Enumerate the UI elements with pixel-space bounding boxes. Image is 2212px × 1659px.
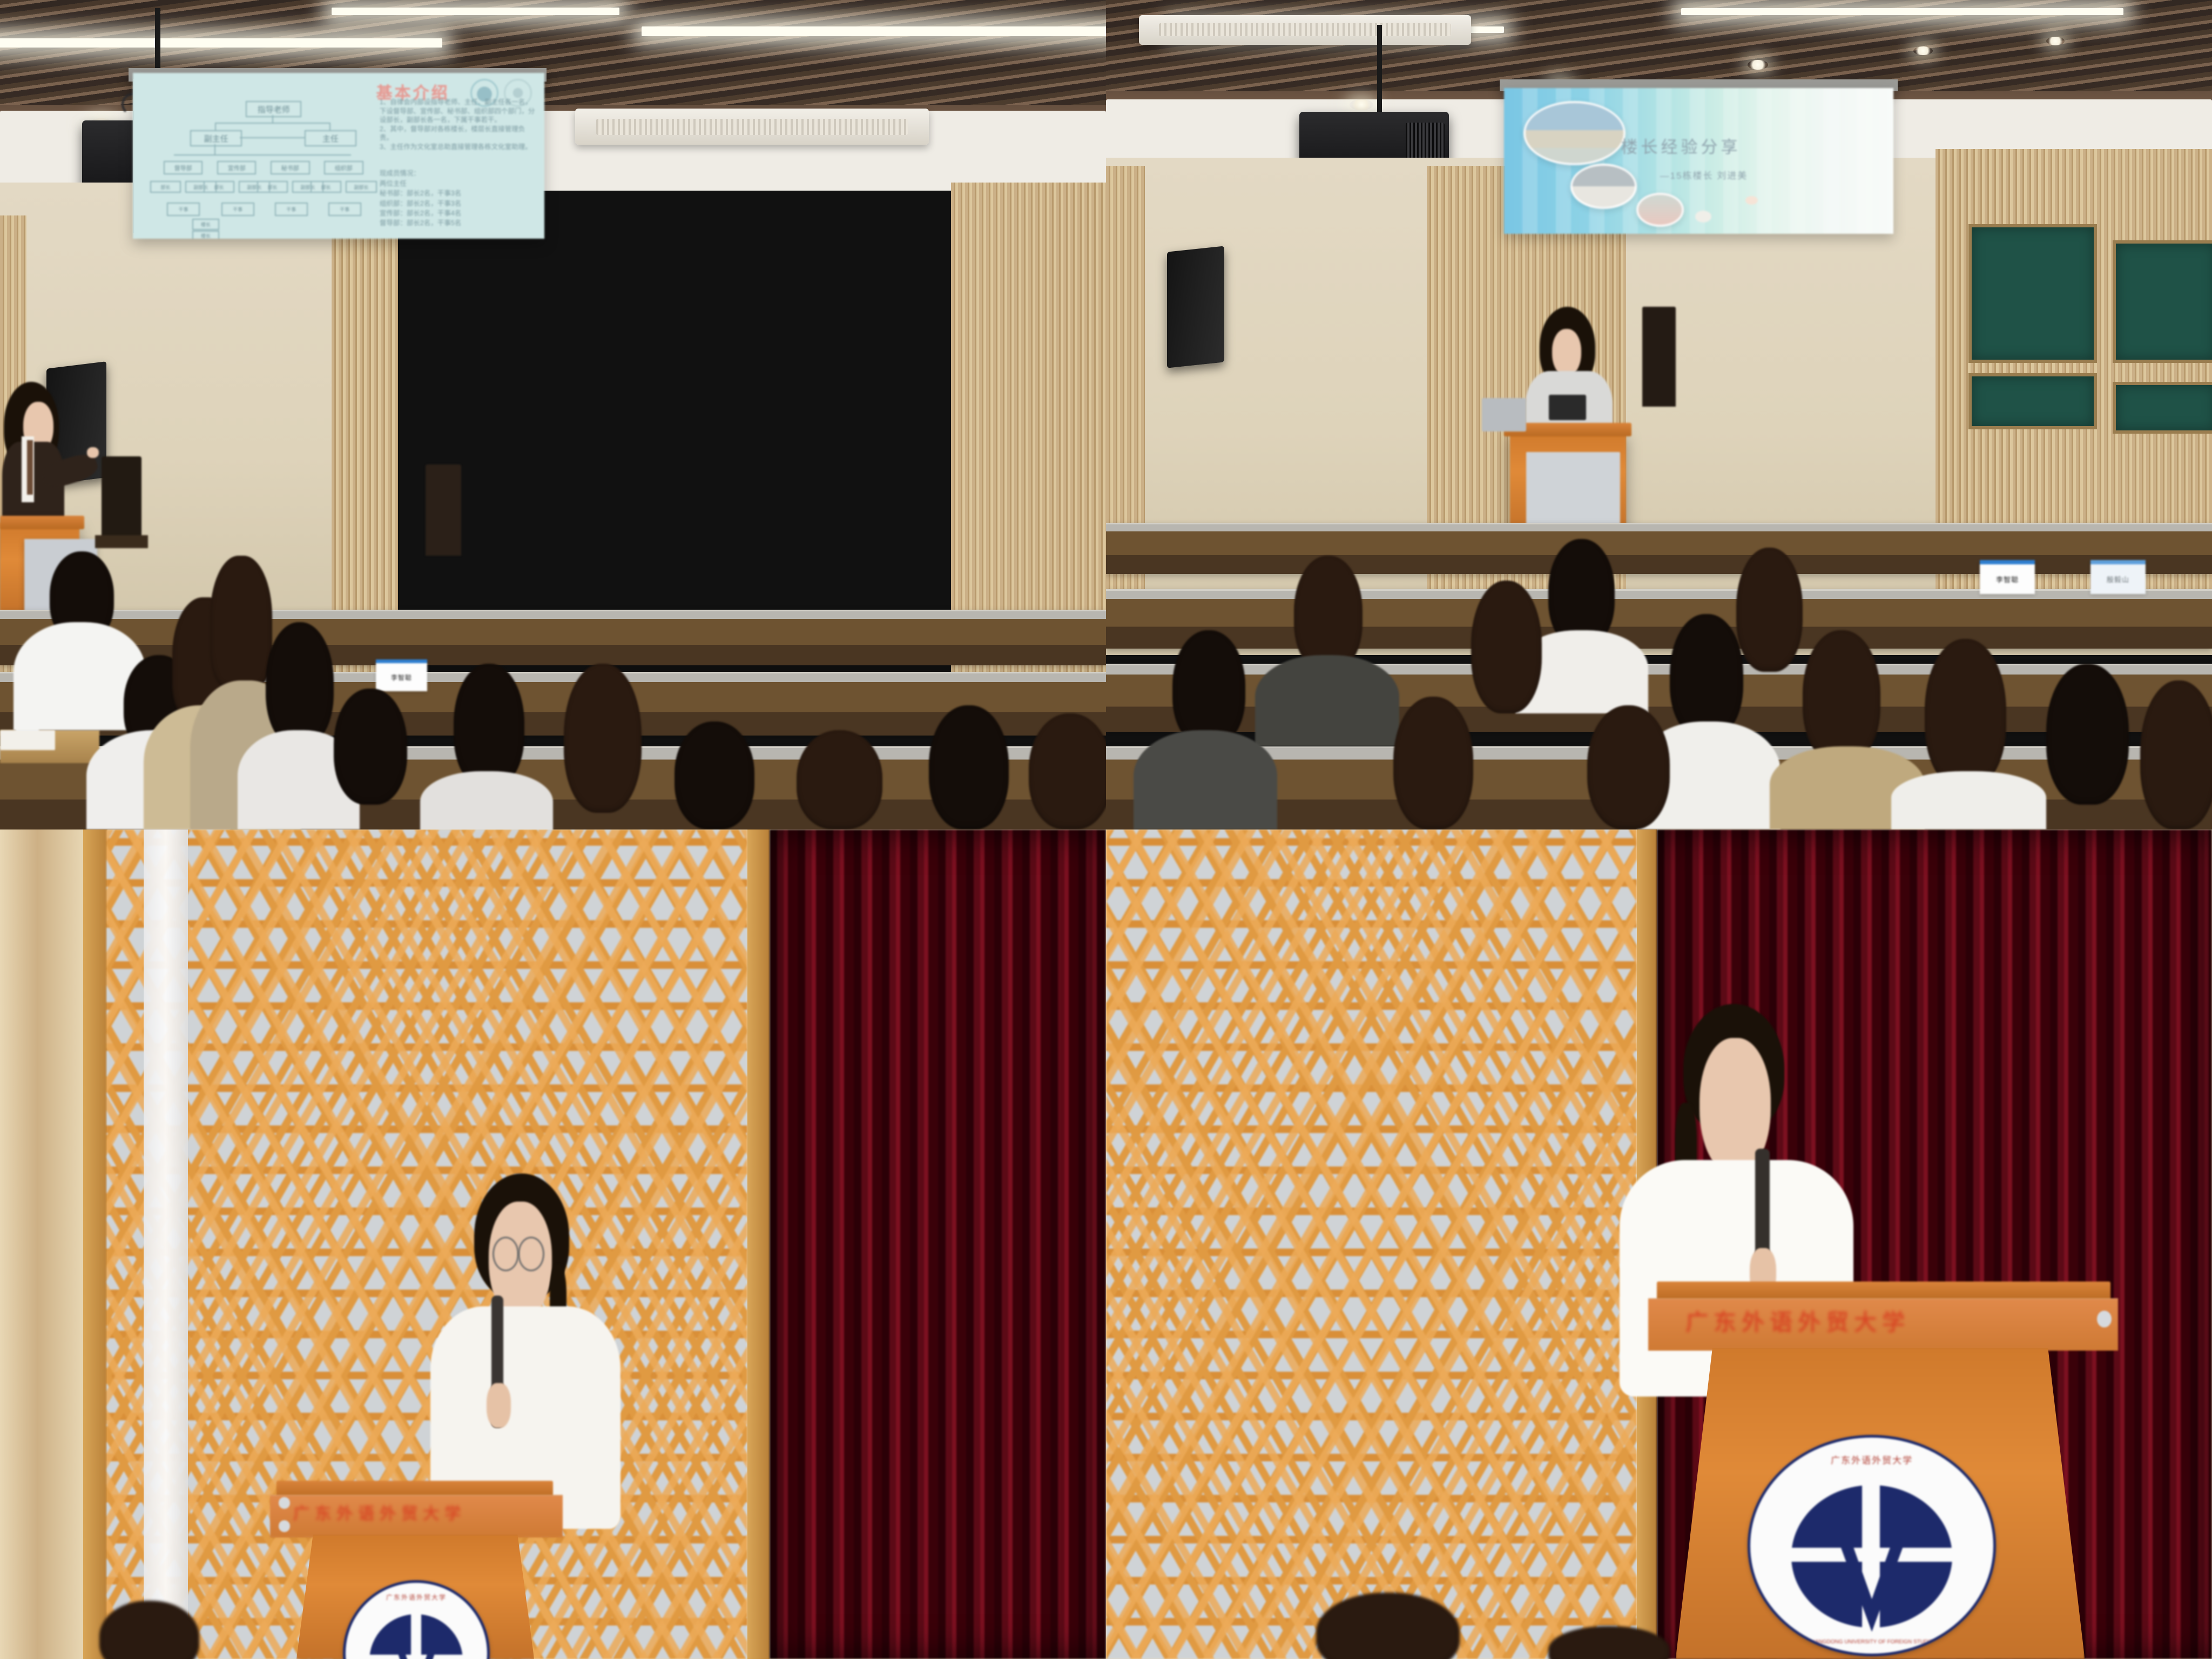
slide-member-line: 两位主任 (380, 179, 536, 188)
slide-member-line: 秘书部：部长2名，干事3名 (380, 189, 536, 198)
slide-members-heading: 现成员情况： (380, 169, 536, 178)
org-node-building-head: 楼长 (192, 219, 219, 230)
crest-english-text: GUANGDONG UNIVERSITY OF FOREIGN STUDIES (1765, 1639, 1979, 1645)
podium-bolt (279, 1520, 289, 1532)
lattice-screen-wall (1106, 829, 1637, 1659)
air-conditioner (575, 109, 929, 145)
audience-head (1803, 630, 1880, 763)
necktie (27, 440, 33, 495)
podium-bolt (279, 1497, 289, 1509)
audience-head (1587, 705, 1670, 829)
slide-body-text: 1、自律会内部设指导老师、主任、副主任各一名，下设督导部、宣传部、秘书部、组织部… (380, 98, 536, 151)
org-node-dept: 宣传部 (217, 161, 257, 175)
stage-chair (102, 456, 141, 539)
org-node-role: 副部长 (346, 181, 376, 193)
stage-chair-seat (95, 535, 148, 549)
org-connector (215, 123, 330, 124)
chalkboard (1968, 224, 2096, 363)
chalkboard (1968, 373, 2096, 429)
org-node-director: 主任 (305, 130, 356, 146)
hand (487, 1383, 511, 1428)
wood-slat-wall (332, 199, 398, 680)
audience-head (1736, 548, 1803, 672)
downlight (2046, 37, 2065, 45)
ac-grill (1159, 23, 1451, 36)
audience-shoulders (1255, 655, 1399, 746)
name-placard: 殷毅山 (2090, 560, 2146, 594)
lattice-pattern-overlay (1106, 829, 1637, 1659)
activity-photo (1636, 193, 1683, 226)
podium-bolt (2097, 1311, 2112, 1327)
ceiling-light (0, 38, 442, 48)
podium-banner: 广东外语外贸大学 (270, 1495, 563, 1537)
podium-panel (1526, 452, 1620, 527)
lattice-frame (83, 829, 107, 1659)
university-crest: 广东外语外贸大学 GUANGDONG UNIVERSITY OF FOREIGN… (1748, 1435, 1997, 1656)
glasses-icon (518, 1237, 544, 1271)
downlight (1748, 60, 1768, 70)
org-connector (240, 137, 305, 138)
audience-head (1925, 639, 2007, 788)
audience-head (454, 664, 524, 788)
podium-banner: 广东外语外贸大学 (1648, 1298, 2118, 1351)
crest-chinese-text: 广东外语外贸大学 (357, 1593, 476, 1635)
org-node-dept: 督导部 (164, 161, 203, 175)
audience-head (2140, 680, 2212, 829)
stage-curtain (770, 829, 1106, 1659)
face (1552, 329, 1581, 376)
audience-head (1172, 630, 1245, 746)
audience-head (210, 556, 272, 689)
stage-chair (1642, 307, 1675, 406)
org-node-building-head: 楼长 (192, 231, 219, 239)
audience-head (797, 730, 883, 829)
org-node-staff: 干事 (167, 203, 200, 217)
desk-row (1106, 589, 2212, 649)
desk-row (1106, 523, 2212, 574)
notebook (0, 730, 55, 750)
collage-panel-bottom-left: 广东外语外贸大学 广东外语外贸大学 GUANGDONG UNIVERSITY O… (0, 829, 1106, 1659)
slide-subtitle: —15栋楼长 刘进美 (1660, 168, 1748, 181)
audience-shoulders (420, 771, 553, 829)
stage-chair (426, 464, 461, 556)
slide-member-line: 督导部：部长2名，干事5名 (380, 219, 536, 228)
audience-head (929, 705, 1008, 829)
campus-building-photo (1523, 101, 1625, 165)
speaker-person (464, 1174, 586, 1522)
audience-head (266, 622, 334, 746)
hand (87, 447, 99, 458)
downlight (1350, 99, 1373, 110)
ceiling-light (642, 26, 1106, 36)
shirt-graphic (1549, 395, 1586, 420)
wood-slat-wall (1106, 166, 1145, 647)
chalkboard (2113, 240, 2212, 363)
slide-basic-introduction: 基本介绍 指导老师 副主任 主任 督导部 宣传部 秘书部 组 (133, 73, 544, 239)
podium-banner-text: 广东外语外贸大学 (1685, 1304, 2090, 1337)
name-placard: 李智聪 (376, 659, 427, 691)
podium-laptop (1482, 398, 1526, 431)
org-node-staff: 干事 (328, 203, 361, 217)
slide-experience-sharing: 楼长经验分享 —15栋楼长 刘进美 (1504, 88, 1893, 234)
name-placard: 李智聪 (1980, 560, 2035, 594)
wood-column (0, 829, 83, 1659)
audience-head (675, 721, 754, 829)
decor-dot (1695, 211, 1711, 222)
audience-head (1670, 614, 1743, 738)
org-connector (214, 144, 215, 154)
org-node-vice-director: 副主任 (190, 130, 241, 146)
dorm-room-photo (1570, 164, 1637, 209)
ac-grill (596, 119, 908, 135)
audience-shoulders (1134, 730, 1277, 829)
slide-member-line: 宣传部：部长2名，干事4名 (380, 209, 536, 218)
org-node-staff: 干事 (221, 203, 254, 217)
podium-top (0, 516, 84, 529)
audience-head (1471, 581, 1542, 713)
org-node-dept: 秘书部 (271, 161, 310, 175)
crest-chinese-text: 广东外语外贸大学 (1770, 1453, 1974, 1518)
org-node-staff: 干事 (275, 203, 308, 217)
org-node-role: 部长 (204, 181, 234, 193)
org-node-role: 部长 (311, 181, 341, 193)
audience-head (1029, 713, 1106, 829)
wall-pillar (144, 829, 188, 1659)
photo-collage: 基本介绍 指导老师 副主任 主任 督导部 宣传部 秘书部 组 (0, 0, 2212, 1659)
org-node-role: 部长 (150, 181, 181, 193)
lattice-frame (747, 829, 770, 1659)
collage-panel-bottom-right: 广东外语外贸大学 广东外语外贸大学 GUANGDONG UNIVERSITY O… (1106, 829, 2212, 1659)
org-connector (174, 154, 351, 156)
ceiling-light (1681, 8, 2123, 15)
audience-head (1393, 697, 1473, 829)
slide-member-line: 组织部：部长2名，干事3名 (380, 199, 536, 208)
chalkboard (2113, 382, 2212, 434)
slide-title: 楼长经验分享 (1621, 133, 1741, 158)
projector-mount-pole (1377, 25, 1382, 116)
audience-head (2046, 664, 2129, 805)
podium-banner-text: 广东外语外贸大学 (293, 1500, 545, 1524)
audience-head (334, 689, 407, 805)
collage-panel-top-right: 楼长经验分享 —15栋楼长 刘进美 李智聪 殷毅山 (1106, 0, 2212, 829)
collage-panel-top-left: 基本介绍 指导老师 副主任 主任 督导部 宣传部 秘书部 组 (0, 0, 1106, 829)
audience-shoulders (1891, 771, 2046, 829)
projection-screen: 基本介绍 指导老师 副主任 主任 督导部 宣传部 秘书部 组 (133, 73, 544, 239)
org-node-role: 部长 (257, 181, 288, 193)
org-node-root: 指导老师 (246, 101, 301, 117)
wall-speaker (1167, 246, 1224, 368)
air-conditioner (1139, 15, 1471, 45)
audience-head (1294, 556, 1363, 672)
audience-head (564, 664, 641, 813)
wood-slat-wall (951, 183, 1106, 680)
projection-screen: 楼长经验分享 —15栋楼长 刘进美 (1504, 88, 1893, 234)
ceiling-light (332, 8, 619, 15)
glasses-icon (493, 1237, 519, 1271)
downlight (1913, 46, 1933, 55)
org-node-dept: 组织部 (324, 161, 363, 175)
